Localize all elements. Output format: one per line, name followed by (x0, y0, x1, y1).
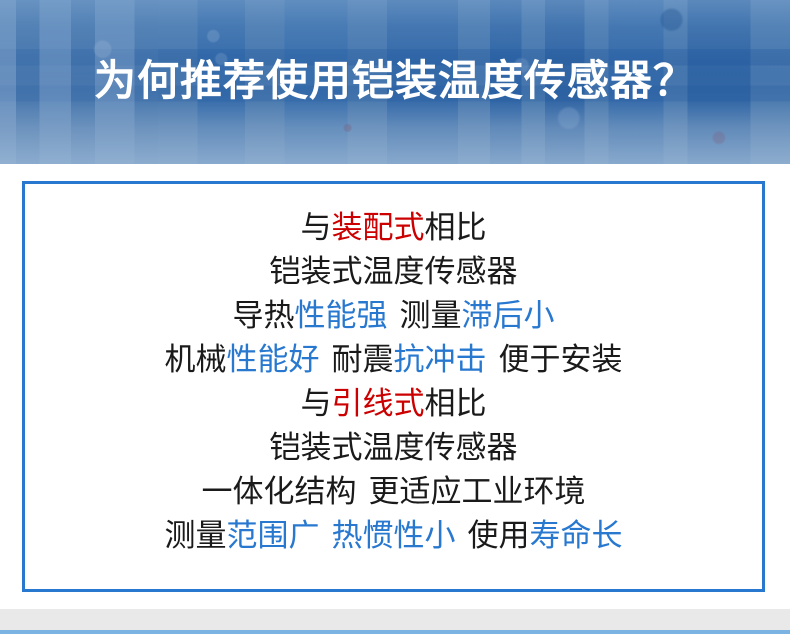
feature-text-segment: 热惯性小 (332, 518, 456, 553)
feature-line: 铠装式温度传感器 (25, 250, 762, 294)
footer-gray-strip (0, 609, 790, 630)
feature-text-block: 与装配式相比铠装式温度传感器导热性能强测量滞后小机械性能好耐震抗冲击便于安装与引… (25, 206, 762, 558)
blue-frame-border: 与装配式相比铠装式温度传感器导热性能强测量滞后小机械性能好耐震抗冲击便于安装与引… (22, 181, 765, 592)
feature-text-segment: 装配式 (332, 210, 425, 245)
feature-text-segment: 使用 (468, 518, 530, 553)
feature-text-segment: 一体化结构 (202, 474, 357, 509)
footer-blue-strip (0, 630, 790, 634)
feature-text-segment: 机械 (165, 342, 227, 377)
feature-line: 一体化结构更适应工业环境 (25, 470, 762, 514)
feature-text-segment: 寿命长 (530, 518, 623, 553)
content-panel: 与装配式相比铠装式温度传感器导热性能强测量滞后小机械性能好耐震抗冲击便于安装与引… (0, 164, 790, 609)
feature-line: 机械性能好耐震抗冲击便于安装 (25, 338, 762, 382)
feature-line: 测量范围广热惯性小使用寿命长 (25, 514, 762, 558)
feature-text-segment: 与 (301, 210, 332, 245)
feature-text-segment: 测量 (400, 298, 462, 333)
feature-text-segment: 性能好 (227, 342, 320, 377)
page-root: 为何推荐使用铠装温度传感器？ 与装配式相比铠装式温度传感器导热性能强测量滞后小机… (0, 0, 790, 634)
feature-line: 与装配式相比 (25, 206, 762, 250)
feature-text-segment: 滞后小 (462, 298, 555, 333)
feature-text-segment: 引线式 (332, 386, 425, 421)
page-title: 为何推荐使用铠装温度传感器？ (0, 0, 790, 164)
feature-text-segment: 铠装式温度传感器 (270, 430, 518, 465)
feature-text-segment: 便于安装 (499, 342, 623, 377)
hero-banner: 为何推荐使用铠装温度传感器？ (0, 0, 790, 164)
feature-text-segment: 导热 (233, 298, 295, 333)
feature-text-segment: 范围广 (227, 518, 320, 553)
feature-line: 导热性能强测量滞后小 (25, 294, 762, 338)
feature-text-segment: 性能强 (295, 298, 388, 333)
feature-text-segment: 抗冲击 (394, 342, 487, 377)
feature-text-segment: 耐震 (332, 342, 394, 377)
feature-text-segment: 测量 (165, 518, 227, 553)
feature-text-segment: 相比 (425, 210, 487, 245)
feature-line: 铠装式温度传感器 (25, 426, 762, 470)
feature-text-segment: 与 (301, 386, 332, 421)
feature-text-segment: 相比 (425, 386, 487, 421)
feature-text-segment: 铠装式温度传感器 (270, 254, 518, 289)
feature-line: 与引线式相比 (25, 382, 762, 426)
feature-text-segment: 更适应工业环境 (369, 474, 586, 509)
